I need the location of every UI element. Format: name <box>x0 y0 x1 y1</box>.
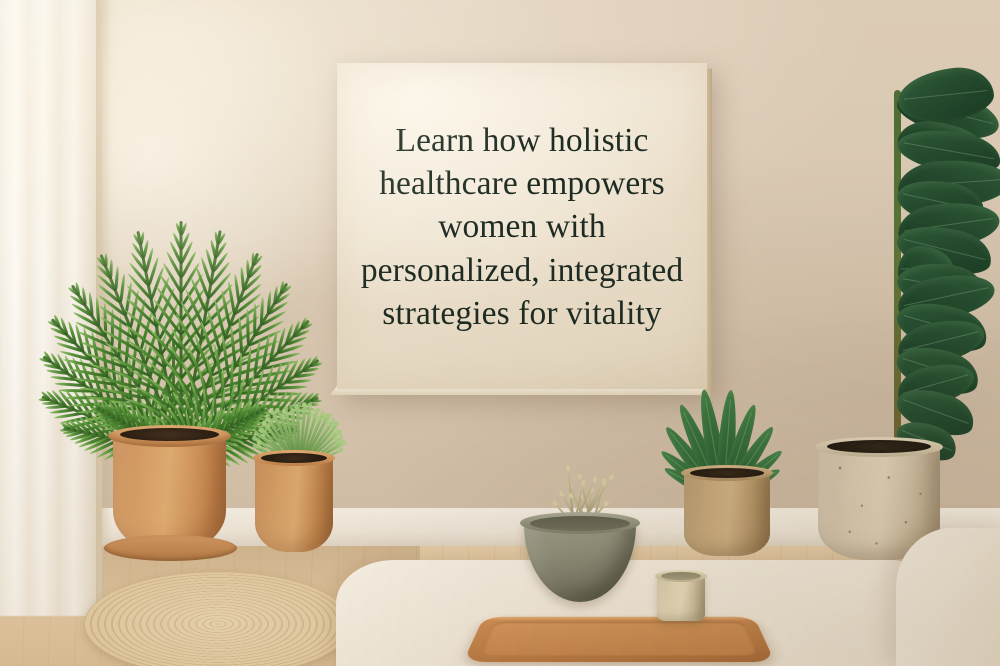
palm-leaflet <box>139 231 145 245</box>
speckled-stone-pot-soil <box>827 440 931 453</box>
jute-rug <box>84 572 352 666</box>
tan-ceramic-pot <box>684 470 770 556</box>
palm-leaflet <box>180 251 197 279</box>
terracotta-pot-large-soil <box>120 428 219 441</box>
stone-bowl-interior <box>530 516 630 531</box>
canvas-quote-line-4: strategies for vitality <box>357 292 687 335</box>
canvas-quote-line-0: Learn how holistic <box>357 119 687 162</box>
palm-leaflet <box>233 273 240 302</box>
interior-scene: Learn how holistichealthcare empowerswom… <box>0 0 1000 666</box>
tray-inner-surface <box>480 622 759 656</box>
pot-saucer <box>104 535 237 561</box>
leaf-midrib <box>904 142 994 159</box>
leaf-midrib <box>904 90 988 100</box>
palm-leaflet <box>114 267 119 292</box>
palm-leaflet <box>119 274 126 304</box>
tray-rim-highlight <box>482 617 756 621</box>
terracotta-pot-large <box>113 430 226 552</box>
terracotta-pot-small-soil <box>261 453 327 463</box>
wooden-tray[interactable] <box>463 617 775 662</box>
palm-leaflet <box>109 260 113 279</box>
ceramic-cup-interior <box>661 572 701 580</box>
canvas-quote-text: Learn how holistichealthcare empowerswom… <box>357 119 687 334</box>
palm-leaflet <box>277 385 307 390</box>
bush-sprig-tip <box>333 420 340 427</box>
canvas-quote-line-3: personalized, integrated <box>357 249 687 292</box>
leaf-midrib <box>902 399 969 424</box>
palm-leaflet <box>104 254 107 267</box>
wall-canvas[interactable]: Learn how holistichealthcare empowerswom… <box>337 63 707 389</box>
rubber-plant <box>748 60 1000 460</box>
canvas-quote-line-2: women with <box>357 205 687 248</box>
terracotta-pot-small <box>255 455 333 552</box>
palm-leaflet <box>246 309 250 346</box>
tan-ceramic-pot-soil <box>690 468 764 478</box>
bush-sprig-tip <box>337 447 344 454</box>
canvas-quote-line-1: healthcare empowers <box>357 162 687 205</box>
sofa-cushion <box>896 528 1000 666</box>
